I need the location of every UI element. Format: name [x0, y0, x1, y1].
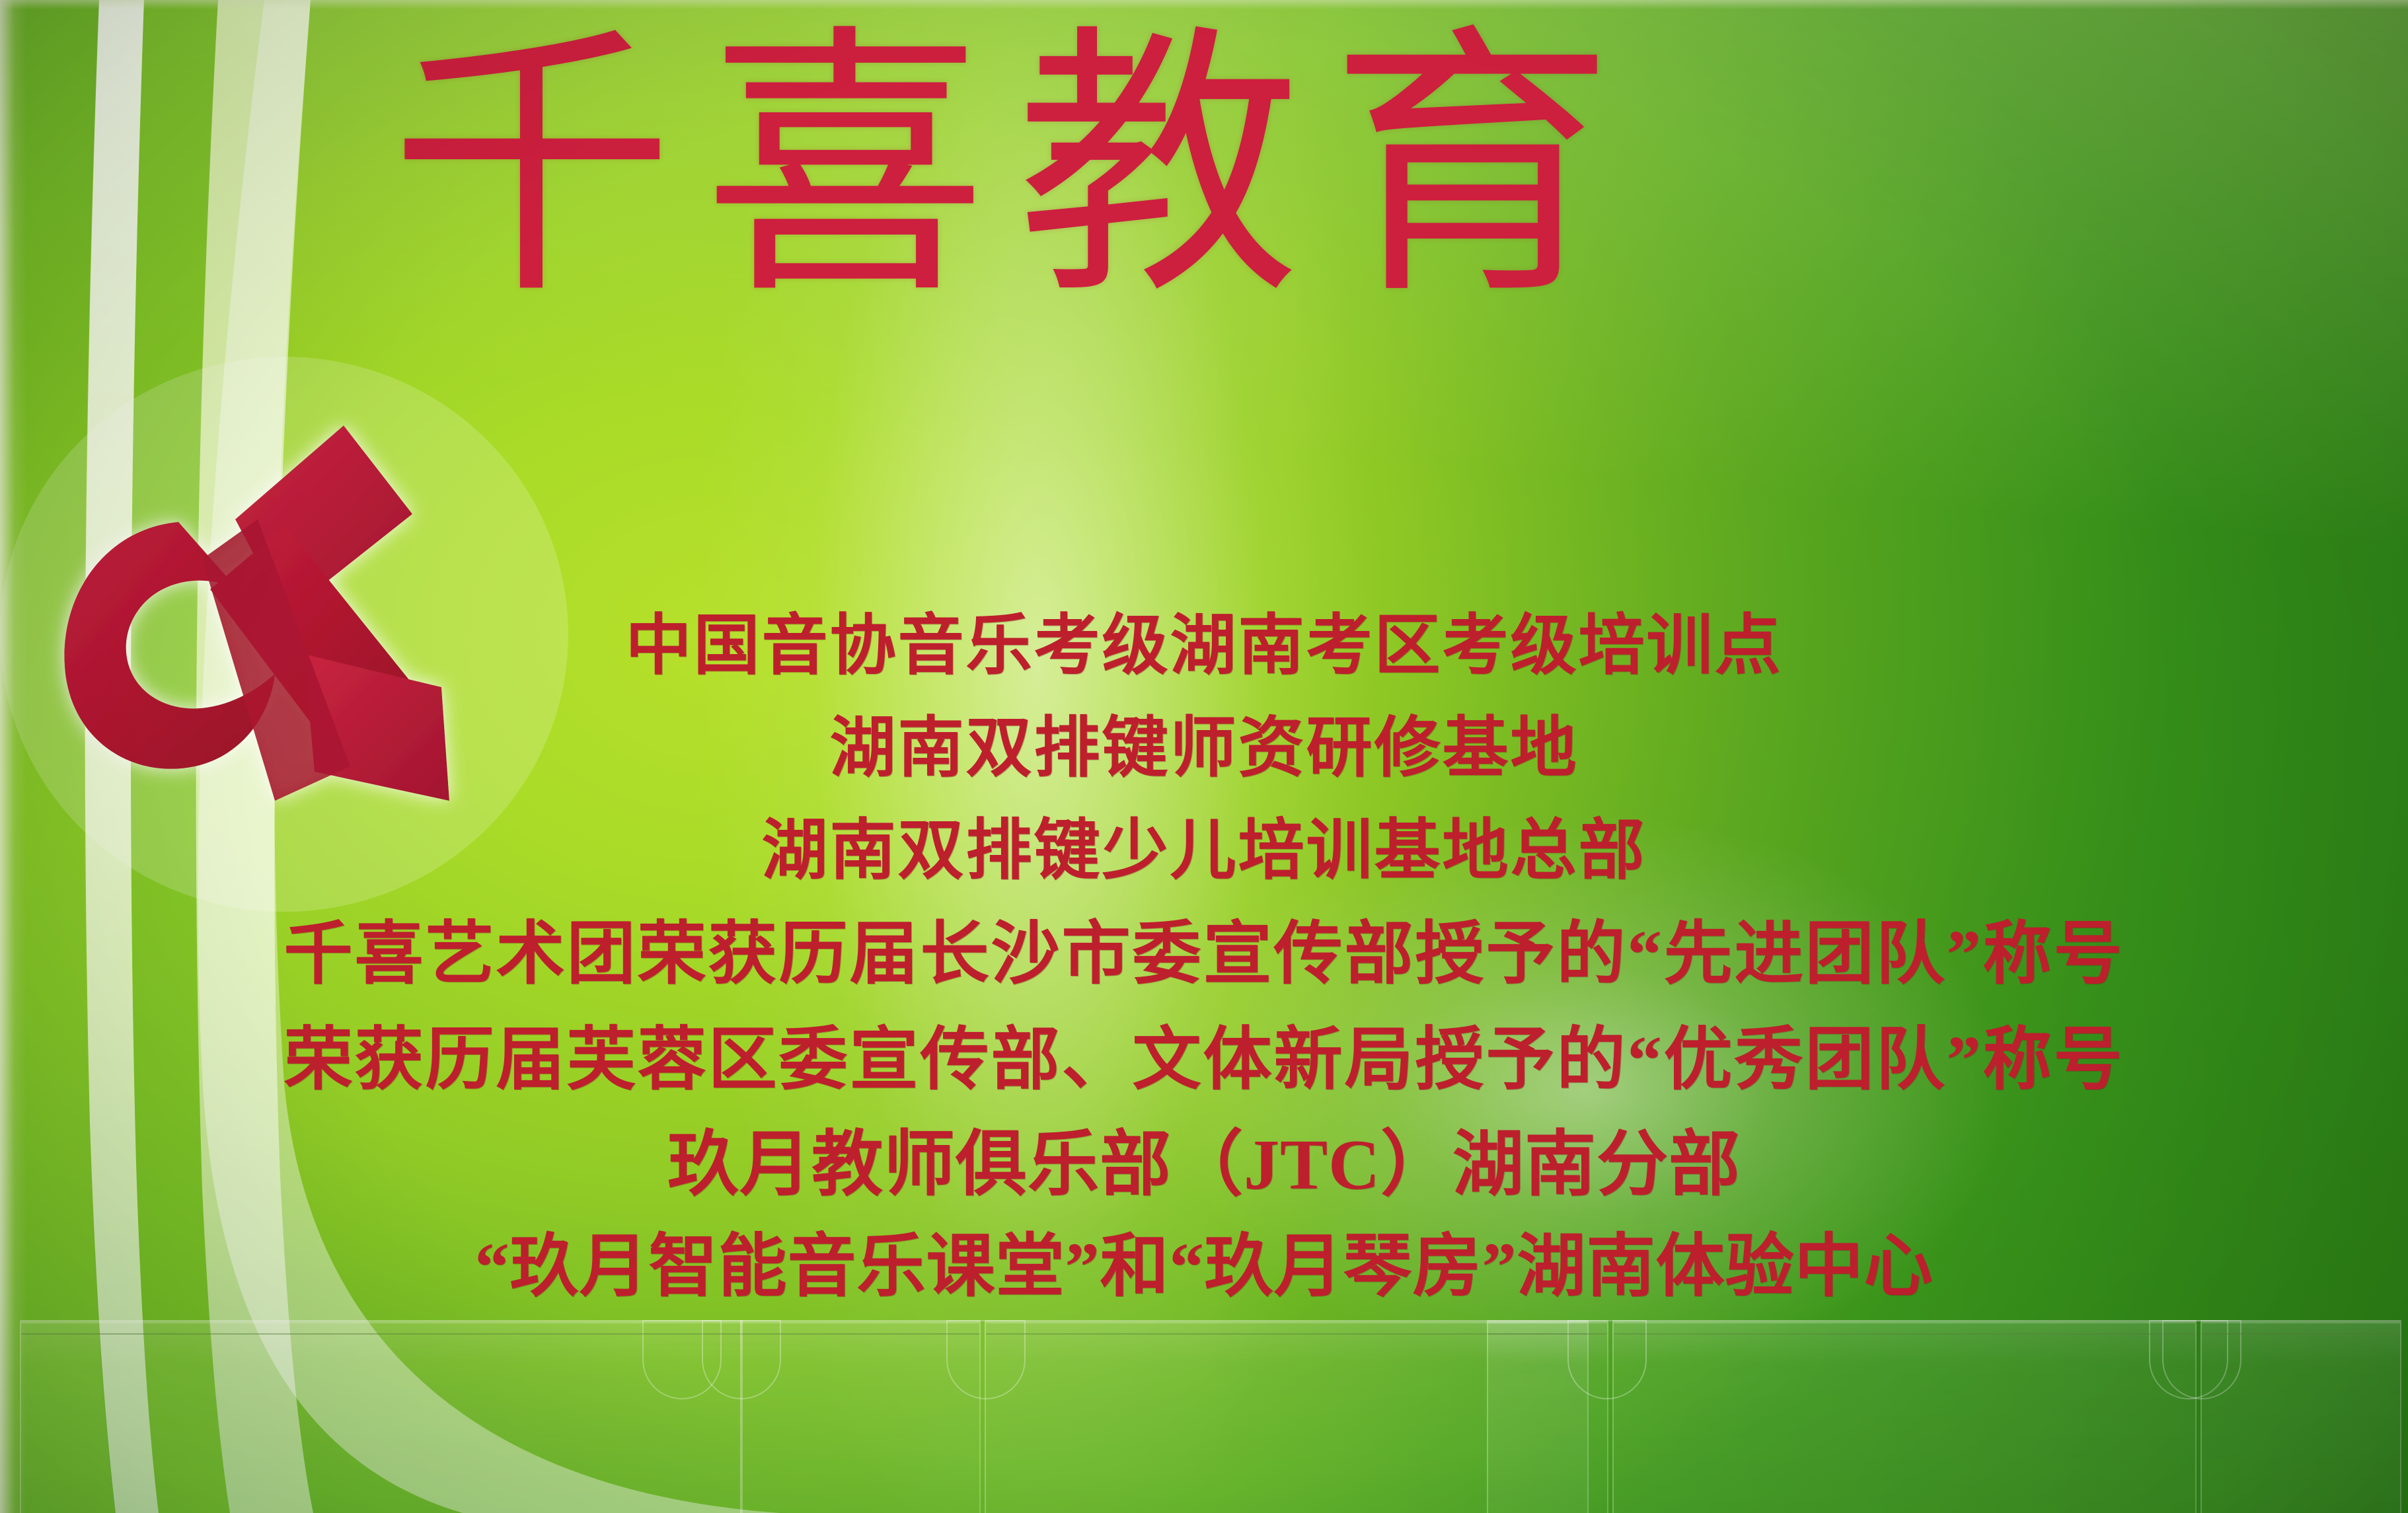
brochure-holder-row: [0, 1302, 2408, 1513]
credential-line: 荣获历届芙蓉区委宣传部、文体新局授予的“优秀团队”称号: [0, 1008, 2408, 1113]
brochure-holder-4[interactable]: [740, 1320, 981, 1513]
holder-notch: [2162, 1320, 2241, 1399]
page-title: 千喜教育: [390, 28, 1579, 312]
credential-line: 中国音协音乐考级湖南考区考级培训点: [0, 595, 2408, 697]
credentials-list: 中国音协音乐考级湖南考区考级培训点 湖南双排键师资研修基地 湖南双排键少儿培训基…: [0, 595, 2408, 1317]
credential-line: 湖南双排键师资研修基地: [0, 697, 2408, 799]
credential-line: 玖月教师俱乐部（JTC）湖南分部: [0, 1113, 2408, 1218]
signboard: 千喜教育 中国音协音乐考级湖南考区考级培训点 湖南双排键师资研修基地 湖南双排键…: [0, 0, 2408, 1513]
brochure-holder-6[interactable]: [2201, 1320, 2401, 1513]
credential-line: 湖南双排键少儿培训基地总部: [0, 799, 2408, 902]
holder-notch: [702, 1320, 781, 1399]
board-left-edge: [0, 0, 26, 1513]
holder-notch: [1567, 1320, 1647, 1399]
brochure-holder-3[interactable]: [1612, 1320, 2197, 1513]
brochure-holder-1[interactable]: [20, 1320, 743, 1513]
credential-line: 千喜艺术团荣获历届长沙市委宣传部授予的“先进团队”称号: [0, 902, 2408, 1008]
board-top-edge: [0, 0, 2408, 9]
brochure-holder-5[interactable]: [1487, 1320, 1608, 1513]
